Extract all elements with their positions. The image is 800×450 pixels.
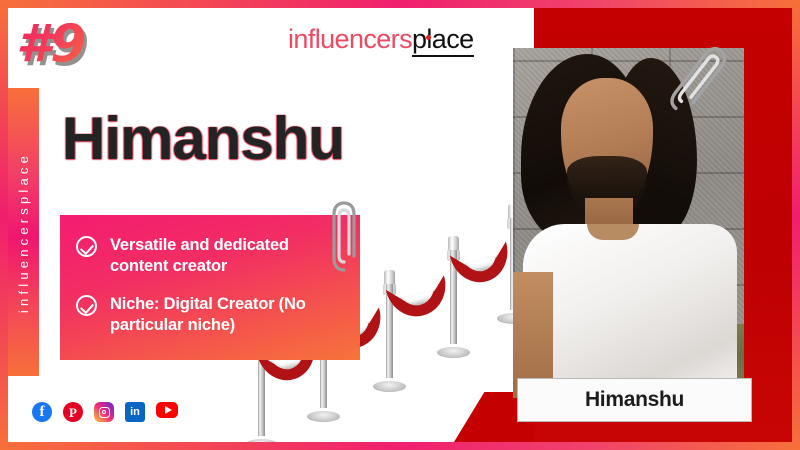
- list-item-label: Niche: Digital Creator (No particular ni…: [110, 294, 342, 336]
- check-circle-icon: [76, 295, 97, 316]
- list-item-label: Versatile and dedicated content creator: [110, 235, 342, 277]
- list-item: Niche: Digital Creator (No particular ni…: [76, 294, 342, 336]
- logo-place-label: place: [412, 24, 474, 54]
- logo-dot-icon: [426, 35, 431, 40]
- paperclip-icon: [331, 200, 357, 274]
- rank-badge: #9: [16, 14, 84, 74]
- pinterest-icon[interactable]: P: [63, 402, 83, 422]
- velvet-rope-segment: [450, 241, 515, 288]
- instagram-icon[interactable]: [94, 402, 114, 422]
- brand-logo: influencersplace: [288, 24, 474, 55]
- frame-border-bottom: [0, 442, 800, 450]
- facebook-icon[interactable]: f: [32, 402, 52, 422]
- name-plate: Himanshu: [517, 378, 752, 422]
- linkedin-icon[interactable]: in: [125, 402, 145, 422]
- photo-white-tshirt: [523, 224, 737, 398]
- velvet-rope-segment: [386, 275, 452, 323]
- check-circle-icon: [76, 236, 97, 257]
- youtube-icon[interactable]: [156, 402, 178, 418]
- page-title: Himanshu: [62, 104, 344, 173]
- logo-text-influencers: influencers: [288, 24, 412, 54]
- list-item: Versatile and dedicated content creator: [76, 235, 342, 277]
- vertical-brand-bar: influencersplace: [8, 88, 39, 376]
- frame-border-top: [0, 0, 800, 8]
- frame-border-left: [0, 0, 8, 450]
- frame-border-right: [792, 0, 800, 450]
- influencer-photo: [513, 48, 744, 398]
- vertical-brand-label: influencersplace: [16, 151, 31, 312]
- highlights-card: Versatile and dedicated content creator …: [60, 215, 360, 360]
- logo-text-place: place: [412, 24, 474, 57]
- name-plate-label: Himanshu: [585, 388, 684, 412]
- influencer-card-stage: influencersplace #9 influencersplace Him…: [0, 0, 800, 450]
- social-icon-row: f P in: [32, 402, 178, 422]
